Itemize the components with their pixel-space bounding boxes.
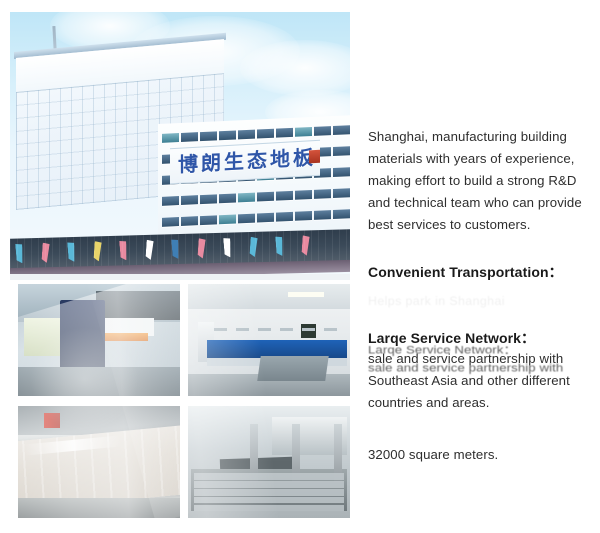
banner-flag-icon [223,237,232,258]
signboard-text: 博朗生态地板 [178,144,316,178]
spacer [368,282,590,292]
photo-monitor [301,324,316,337]
factory-building-exterior-photo: 博朗生态地板 [10,12,350,280]
network-body-line-1: sale and service partnership with [368,348,590,370]
banner-flag-icon [197,238,205,258]
banner-flag-icon [249,237,257,257]
photo-ceiling-light [288,292,324,298]
photo-wall-tag [302,328,315,331]
photo-press-slat [194,505,343,512]
banner-flag-icon [119,240,128,261]
network-body-line-2: Southeast Asia and other different [368,370,590,392]
photo-press-slat [194,497,343,504]
photo-press-slat [194,481,343,488]
photo-wall-tag [324,328,337,331]
network-body-line-3: countries and areas. [368,392,590,414]
photo-press-machine [188,406,350,518]
signboard-logo-icon [309,150,320,164]
factory-photo-collage [10,284,350,522]
network-heading-block: Larqe Service Network： Larqe Service Net… [368,328,590,348]
media-column: 博朗生态地板 [10,12,350,522]
transport-faint-line: Helps park in Shanghai [368,292,590,310]
office-window-row [162,125,350,143]
banner-flag-icon [275,236,284,257]
product-description-panel: 博朗生态地板 [0,0,600,533]
description-text-column: Shanghai, manufacturing building materia… [368,126,590,466]
spacer [368,236,590,262]
area-paragraph: 32000 square meters. [368,444,590,466]
spacer [368,414,590,444]
banner-flag-icon [301,235,309,255]
photo-table [258,356,329,381]
photo-flooring-board-line [18,406,180,518]
intro-paragraph: Shanghai, manufacturing building materia… [368,126,590,236]
banner-flag-icon [93,241,101,261]
banner-flag-icon [15,243,24,264]
cloud-shape [240,40,350,96]
photo-wall-tag [280,328,293,331]
banner-flag-icon [41,243,49,263]
office-window-row [162,209,350,227]
banner-flag-icon [145,240,153,260]
spacer [368,310,590,328]
photo-dark-panel [96,291,180,320]
photo-machine-line [18,284,180,396]
banner-flag-icon [67,242,76,263]
photo-floor [18,367,180,396]
photo-red-cabinet [44,413,60,429]
photo-laboratory-showroom [188,284,350,396]
ground-strip [10,274,350,280]
network-heading: Larqe Service Network： [368,328,590,348]
photo-ceiling [188,284,350,309]
photo-wall-tag [236,328,249,331]
photo-conveyor-rail [18,498,180,518]
photo-orange-roller [99,333,148,341]
photo-wall-tag [258,328,271,331]
office-window-row [162,188,350,206]
photo-press-slat [194,489,343,496]
photo-wall-tag [214,328,227,331]
banner-flag-icon [171,239,180,260]
photo-press-slat [194,473,343,480]
transport-heading: Convenient Transportation： [368,262,590,282]
network-body-block: sale and service partnership with sale a… [368,348,590,414]
